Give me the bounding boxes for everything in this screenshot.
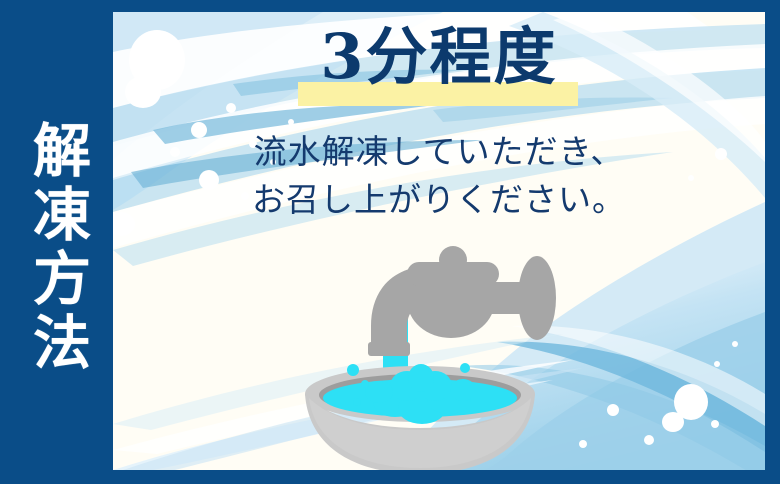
faucet-flange	[518, 256, 556, 340]
illustration-panel	[113, 12, 765, 470]
side-title-band: 解凍方法	[0, 0, 113, 484]
faucet-nozzle	[368, 342, 410, 356]
faucet-handle-knob	[439, 246, 467, 274]
poster-canvas: 解凍方法	[0, 0, 780, 484]
side-title-text: 解凍方法	[26, 120, 87, 376]
panel-artwork	[113, 12, 765, 470]
